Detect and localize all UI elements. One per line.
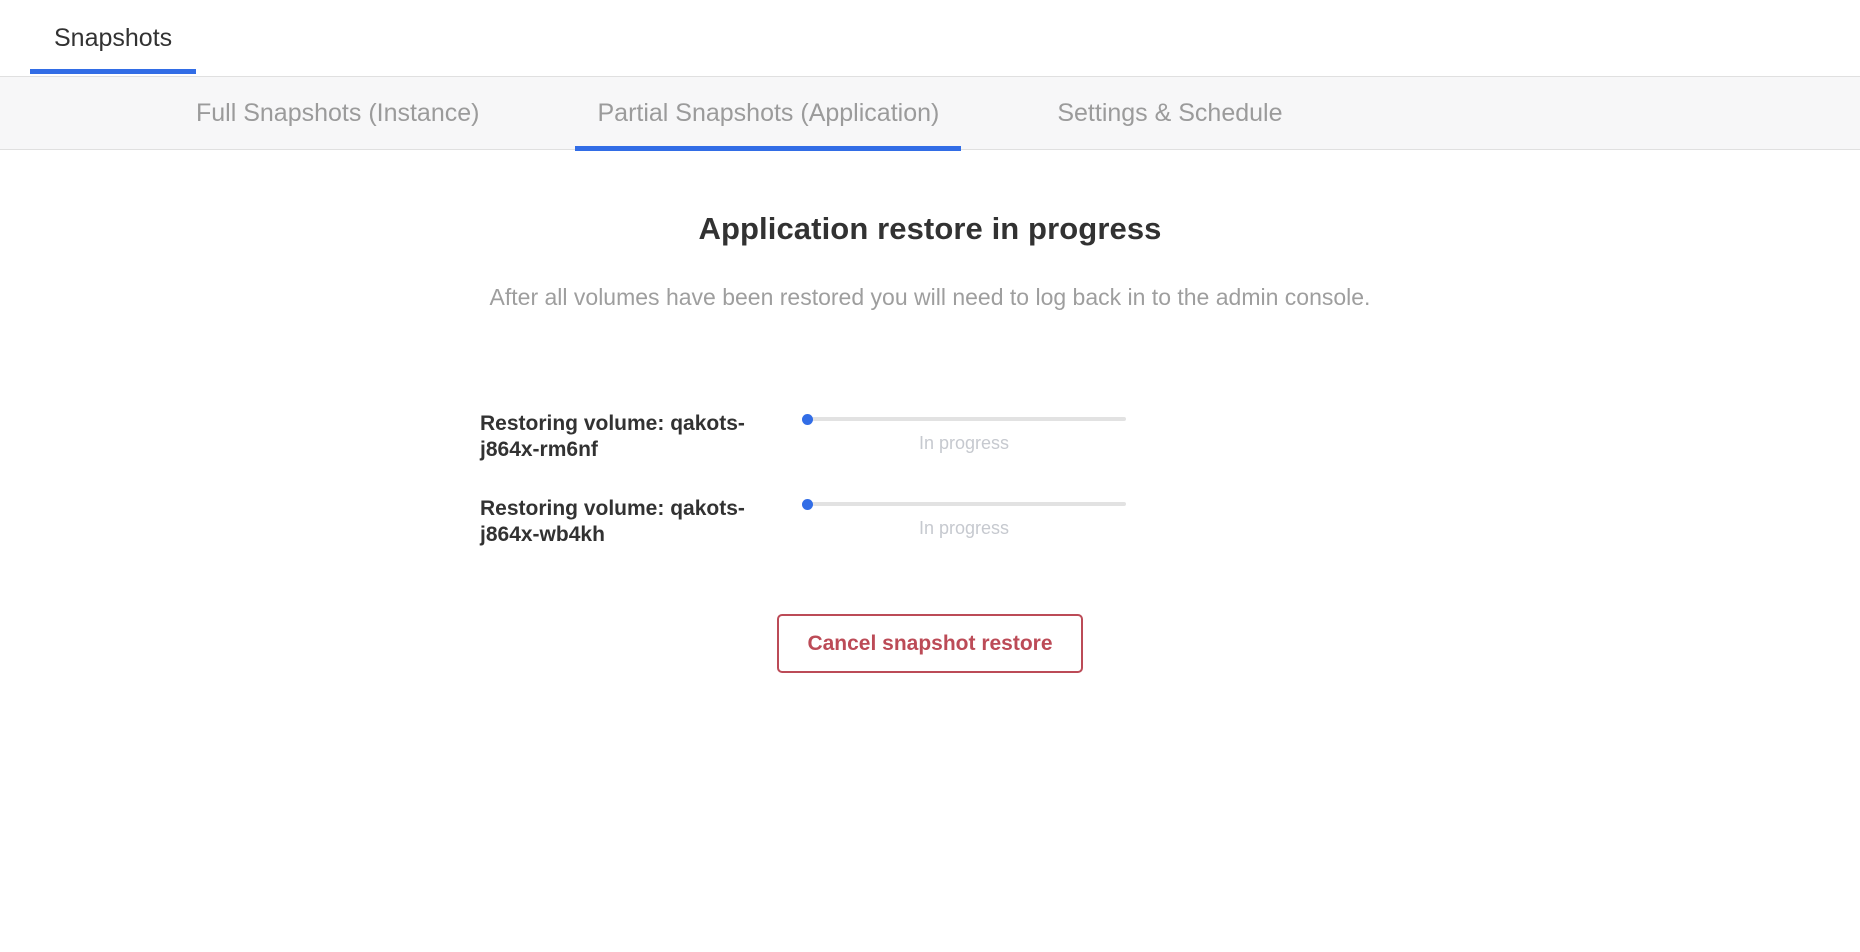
tab-partial-snapshots-application-label: Partial Snapshots (Application) [597,99,939,128]
page-subtitle: After all volumes have been restored you… [0,247,1860,313]
actions-row: Cancel snapshot restore [0,614,1860,673]
tab-settings-and-schedule[interactable]: Settings & Schedule [1057,76,1282,150]
secondary-tab-bar: Full Snapshots (Instance) Partial Snapsh… [0,76,1860,150]
tab-full-snapshots-instance-label: Full Snapshots (Instance) [196,99,479,128]
progress-indicator-dot [802,414,813,425]
tab-settings-and-schedule-label: Settings & Schedule [1057,99,1282,128]
progress-bar [802,417,1126,421]
progress-status-text: In progress [802,506,1126,540]
primary-tab-truncated[interactable]: nt [0,0,24,76]
volume-label: Restoring volume: qakots-j864x-rm6nf [480,403,802,462]
progress-bar [802,502,1126,506]
volume-restore-list: Restoring volume: qakots-j864x-rm6nf In … [0,403,1860,573]
volume-progress-area: In progress [802,488,1126,540]
progress-indicator-dot [802,499,813,510]
page-title: Application restore in progress [0,210,1860,247]
progress-status-text: In progress [802,421,1126,455]
restore-progress-panel: Application restore in progress After al… [0,150,1860,673]
volume-restore-row: Restoring volume: qakots-j864x-wb4kh In … [480,488,1126,547]
primary-tab-snapshots[interactable]: Snapshots [24,0,202,76]
volume-progress-area: In progress [802,403,1126,455]
cancel-snapshot-restore-button[interactable]: Cancel snapshot restore [777,614,1082,673]
primary-tab-snapshots-label: Snapshots [54,24,172,53]
volume-restore-row: Restoring volume: qakots-j864x-rm6nf In … [480,403,1126,462]
tab-full-snapshots-instance[interactable]: Full Snapshots (Instance) [196,76,479,150]
primary-tab-bar: nt Snapshots [0,0,1860,76]
tab-partial-snapshots-application[interactable]: Partial Snapshots (Application) [597,76,939,150]
volume-label: Restoring volume: qakots-j864x-wb4kh [480,488,802,547]
